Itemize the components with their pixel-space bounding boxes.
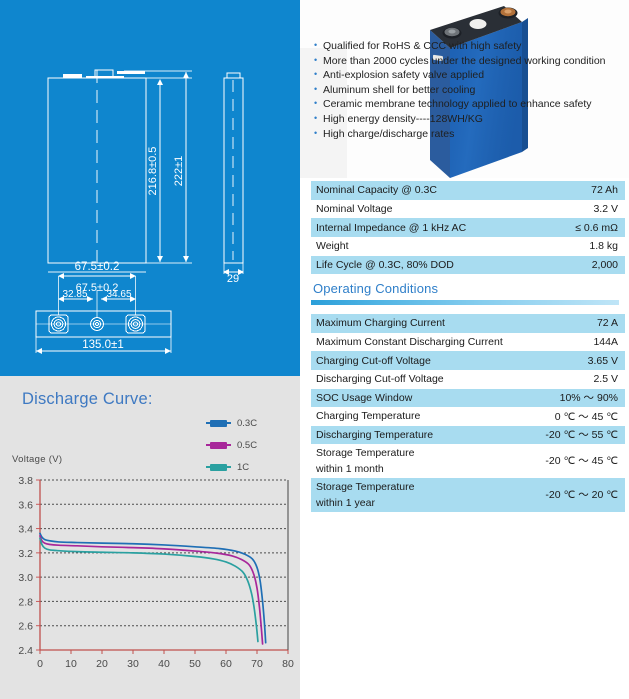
table-row: Life Cycle @ 0.3C, 80% DOD 2,000: [311, 256, 625, 275]
oc-key: Discharging Temperature: [311, 426, 533, 445]
oc-key: Storage Temperature within 1 month: [311, 444, 533, 478]
oc-value: 72 A: [533, 314, 625, 333]
discharge-curve-panel: Discharge Curve: 0.3C 0.5C 1C Voltage (V…: [0, 376, 300, 699]
spec-value: 72 Ah: [549, 181, 625, 200]
feature-item: High charge/discharge rates: [314, 127, 629, 142]
feature-item: More than 2000 cycles under the designed…: [314, 54, 629, 69]
table-row: Internal Impedance @ 1 kHz AC ≤ 0.6 mΩ: [311, 218, 625, 237]
legend-label-1c: 1C: [237, 462, 249, 473]
table-row: Maximum Charging Current 72 A: [311, 314, 625, 333]
table-row: Storage Temperature within 1 month -20 ℃…: [311, 444, 625, 478]
x-tick-label: 0: [37, 658, 43, 670]
y-tick-label: 2.6: [18, 621, 33, 633]
operating-conditions-section: Operating Conditions Maximum Charging Cu…: [300, 281, 629, 512]
spec-value: ≤ 0.6 mΩ: [549, 218, 625, 237]
spec-key: Internal Impedance @ 1 kHz AC: [311, 218, 549, 237]
feature-item: Anti-explosion safety valve applied: [314, 68, 629, 83]
legend-label-0-3c: 0.3C: [237, 418, 257, 429]
y-tick-label: 3.6: [18, 499, 33, 511]
oc-key: Maximum Constant Discharging Current: [311, 333, 533, 352]
table-row: Charging Temperature 0 ℃ ～ 45 ℃: [311, 407, 625, 426]
oc-key: Charging Cut-off Voltage: [311, 351, 533, 370]
operating-conditions-heading: Operating Conditions: [300, 281, 629, 296]
datasheet-page: 216.8±0.5 222±1 67.5±0.2 29 67.5±0.2 32.…: [0, 0, 629, 699]
oc-value: -20 ℃ ～ 20 ℃: [533, 478, 625, 512]
spec-key: Weight: [311, 237, 549, 256]
technical-drawing-svg: 216.8±0.5 222±1 67.5±0.2 29 67.5±0.2 32.…: [0, 0, 300, 376]
y-tick-label: 2.4: [18, 645, 33, 657]
y-tick-label: 3.4: [18, 524, 33, 536]
feature-item: High energy density----128WH/KG: [314, 112, 629, 127]
x-tick-label: 50: [189, 658, 201, 670]
oc-key: Storage Temperature within 1 year: [311, 478, 533, 512]
operating-conditions-divider: [311, 300, 619, 305]
table-row: Nominal Capacity @ 0.3C 72 Ah: [311, 181, 625, 200]
plot-area: 2.42.62.83.03.23.43.63.80102030405060708…: [0, 472, 300, 697]
x-tick-label: 20: [96, 658, 108, 670]
x-tick-label: 60: [220, 658, 232, 670]
right-column: Features Qualified for RoHS & CCC with h…: [300, 0, 629, 699]
dim-total-width: 135.0±1: [82, 339, 124, 351]
discharge-curve-chart: 2.42.62.83.03.23.43.63.80102030405060708…: [0, 472, 300, 692]
legend-swatch-1c: [210, 464, 227, 471]
table-row: Maximum Constant Discharging Current 144…: [311, 333, 625, 352]
spec-key: Nominal Capacity @ 0.3C: [311, 181, 549, 200]
oc-value: 2.5 V: [533, 370, 625, 389]
oc-value: 10% ～ 90%: [533, 389, 625, 408]
technical-drawing-panel: 216.8±0.5 222±1 67.5±0.2 29 67.5±0.2 32.…: [0, 0, 300, 376]
table-row: Charging Cut-off Voltage 3.65 V: [311, 351, 625, 370]
spec-value: 2,000: [549, 256, 625, 275]
feature-item: Ceramic membrane technology applied to e…: [314, 97, 629, 112]
x-tick-label: 30: [127, 658, 139, 670]
table-row: SOC Usage Window 10% ～ 90%: [311, 389, 625, 408]
dim-right-offset: 34.65: [106, 289, 131, 300]
y-tick-label: 3.2: [18, 548, 33, 560]
x-tick-label: 10: [65, 658, 77, 670]
legend-swatch-0-5c: [210, 442, 227, 449]
oc-key: Maximum Charging Current: [311, 314, 533, 333]
x-tick-label: 70: [251, 658, 263, 670]
table-row: Discharging Temperature -20 ℃ ～ 55 ℃: [311, 426, 625, 445]
table-row: Storage Temperature within 1 year -20 ℃ …: [311, 478, 625, 512]
spec-value: 1.8 kg: [549, 237, 625, 256]
legend-label-0-5c: 0.5C: [237, 440, 257, 451]
features-list: Qualified for RoHS & CCC with high safet…: [314, 39, 629, 141]
specification-table: Nominal Capacity @ 0.3C 72 Ah Nominal Vo…: [311, 181, 625, 274]
dim-front-height-outer: 222±1: [173, 156, 185, 187]
table-row: Weight 1.8 kg: [311, 237, 625, 256]
table-row: Nominal Voltage 3.2 V: [311, 200, 625, 219]
oc-key-line2: within 1 month: [316, 461, 533, 477]
oc-value: 0 ℃ ～ 45 ℃: [533, 407, 625, 426]
dim-front-height-inner: 216.8±0.5: [147, 147, 159, 196]
dim-side-thickness: 29: [227, 273, 239, 285]
y-tick-label: 3.8: [18, 475, 33, 487]
x-tick-label: 80: [282, 658, 294, 670]
y-tick-label: 3.0: [18, 572, 33, 584]
spec-value: 3.2 V: [549, 200, 625, 219]
oc-value: -20 ℃ ～ 45 ℃: [533, 444, 625, 478]
spec-key: Nominal Voltage: [311, 200, 549, 219]
oc-value: 3.65 V: [533, 351, 625, 370]
spec-key: Life Cycle @ 0.3C, 80% DOD: [311, 256, 549, 275]
oc-key: Discharging Cut-off Voltage: [311, 370, 533, 389]
operating-conditions-table: Maximum Charging Current 72 A Maximum Co…: [311, 314, 625, 512]
legend-item-0-5c: 0.5C: [210, 434, 296, 456]
curve-0-3c: [40, 533, 266, 642]
dim-front-width: 67.5±0.2: [75, 261, 120, 273]
oc-key-line2: within 1 year: [316, 495, 533, 511]
oc-key: SOC Usage Window: [311, 389, 533, 408]
legend-swatch-0-3c: [210, 420, 227, 427]
legend-item-0-3c: 0.3C: [210, 412, 296, 434]
oc-key: Charging Temperature: [311, 407, 533, 426]
oc-value: 144A: [533, 333, 625, 352]
feature-item: Aluminum shell for better cooling: [314, 83, 629, 98]
y-tick-label: 2.8: [18, 596, 33, 608]
table-row: Discharging Cut-off Voltage 2.5 V: [311, 370, 625, 389]
chart-title: Discharge Curve:: [22, 390, 153, 409]
chart-legend: 0.3C 0.5C 1C: [210, 412, 296, 478]
dim-left-offset: 32.85: [62, 289, 87, 300]
y-axis-title: Voltage (V): [12, 454, 62, 465]
x-tick-label: 40: [158, 658, 170, 670]
oc-key-line1: Storage Temperature: [316, 445, 533, 461]
oc-value: -20 ℃ ～ 55 ℃: [533, 426, 625, 445]
oc-key-line1: Storage Temperature: [316, 479, 533, 495]
feature-item: Qualified for RoHS & CCC with high safet…: [314, 39, 629, 54]
